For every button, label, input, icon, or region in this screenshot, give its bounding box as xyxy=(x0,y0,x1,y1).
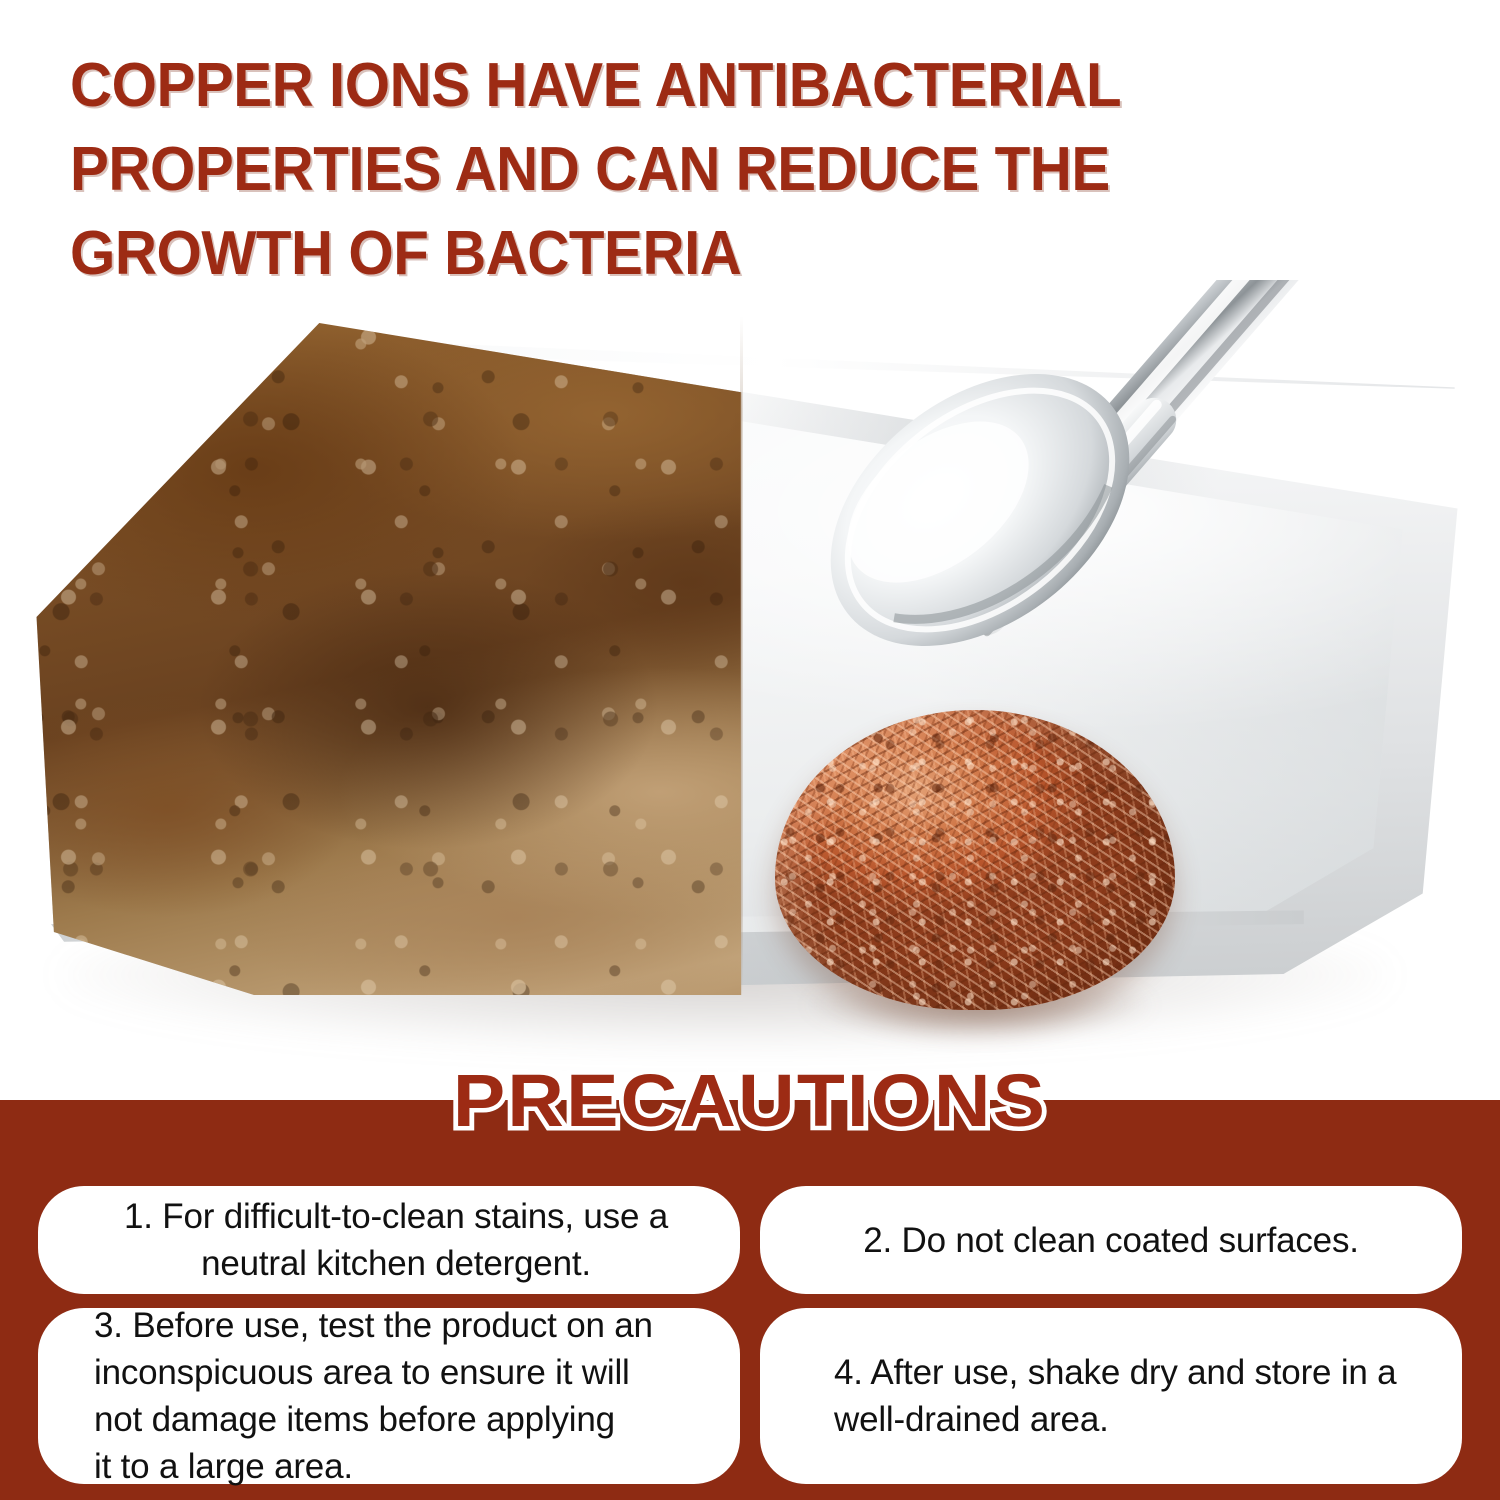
precaution-card-2: 2. Do not clean coated surfaces. xyxy=(760,1186,1462,1294)
precautions-title: PRECAUTIONS xyxy=(0,1062,1500,1140)
baking-tray xyxy=(22,302,1472,1002)
before-after-divider xyxy=(740,316,743,995)
precaution-text-2: 2. Do not clean coated surfaces. xyxy=(863,1217,1359,1264)
precautions-list: 1. For difficult-to-clean stains, use a … xyxy=(38,1186,1462,1484)
precaution-card-4: 4. After use, shake dry and store in a w… xyxy=(760,1308,1462,1484)
product-photo xyxy=(0,280,1500,1100)
precaution-text-1: 1. For difficult-to-clean stains, use a … xyxy=(124,1193,668,1287)
product-infographic: COPPER IONS HAVE ANTIBACTERIAL PROPERTIE… xyxy=(0,0,1500,1500)
copper-scourer-ball xyxy=(775,710,1175,1010)
page-title: COPPER IONS HAVE ANTIBACTERIAL PROPERTIE… xyxy=(70,44,1160,296)
precaution-text-4: 4. After use, shake dry and store in a w… xyxy=(834,1349,1396,1443)
precaution-card-1: 1. For difficult-to-clean stains, use a … xyxy=(38,1186,740,1294)
precaution-text-3: 3. Before use, test the product on an in… xyxy=(94,1302,653,1490)
precaution-card-3: 3. Before use, test the product on an in… xyxy=(38,1308,740,1484)
